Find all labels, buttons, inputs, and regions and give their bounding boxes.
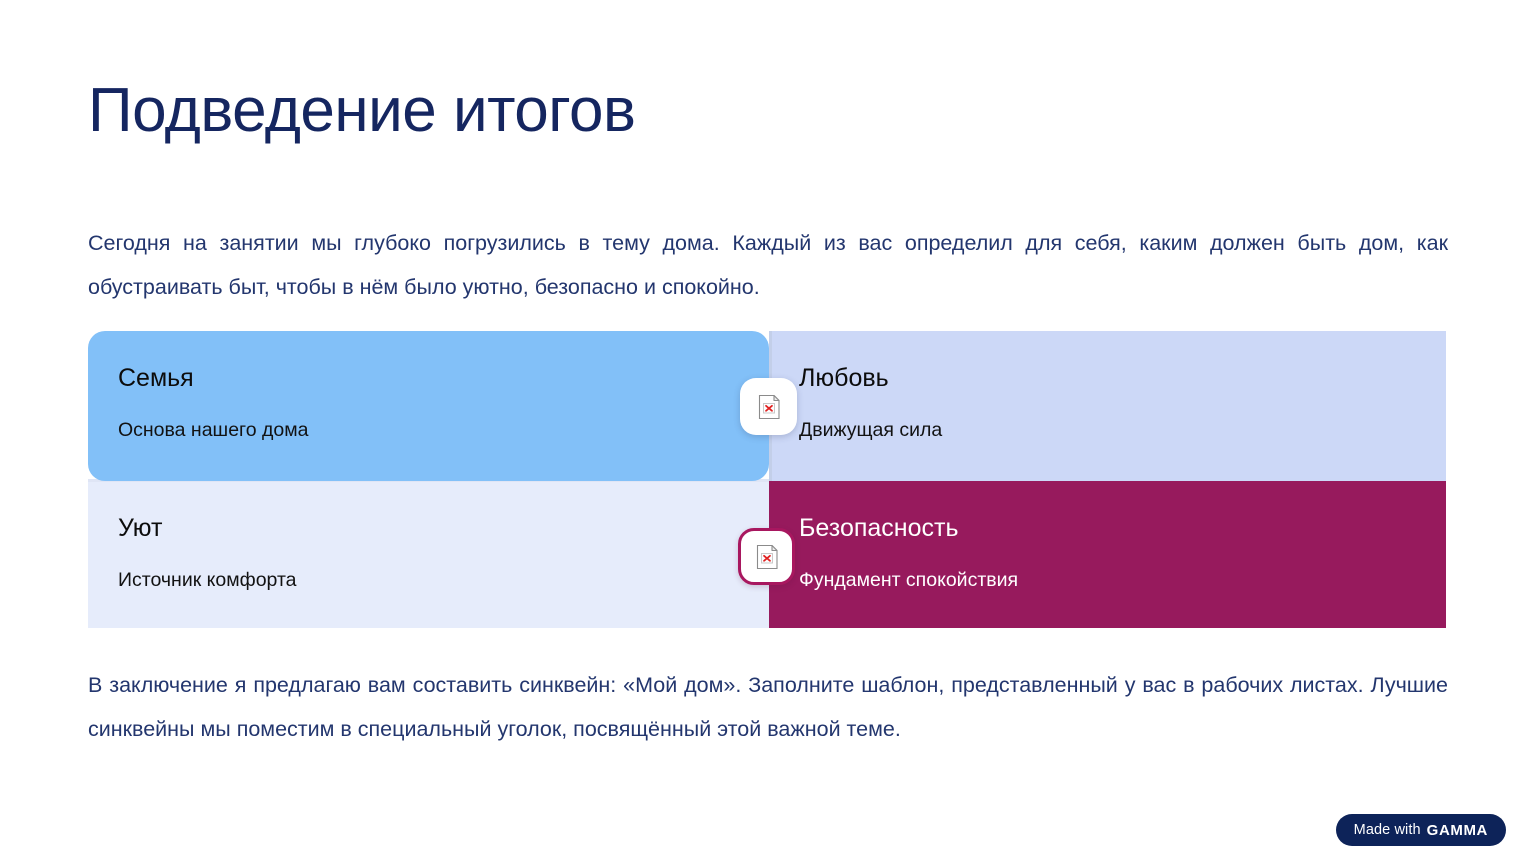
quadrant-subtitle: Фундамент спокойствия <box>799 569 1446 592</box>
quadrant-subtitle: Основа нашего дома <box>118 419 769 442</box>
quadrant-title: Семья <box>118 363 769 393</box>
made-with-gamma-badge[interactable]: Made with GAMMA <box>1336 814 1506 846</box>
quadrant-subtitle: Движущая сила <box>799 419 1446 442</box>
quadrant-title: Любовь <box>799 363 1446 393</box>
quadrant-title: Безопасность <box>799 513 1446 543</box>
outro-paragraph: В заключение я предлагаю вам составить с… <box>88 663 1448 751</box>
quadrant-family[interactable]: Семья Основа нашего дома <box>88 331 769 481</box>
quadrant-subtitle: Источник комфорта <box>118 569 769 592</box>
quadrant-love[interactable]: Любовь Движущая сила <box>769 331 1446 481</box>
broken-image-icon <box>754 392 784 422</box>
broken-image-icon <box>752 542 782 572</box>
quadrant-comfort[interactable]: Уют Источник комфорта <box>88 481 769 628</box>
intro-paragraph: Сегодня на занятии мы глубоко погрузилис… <box>88 221 1448 309</box>
badge-prefix-label: Made with <box>1354 822 1421 838</box>
quadrant-title: Уют <box>118 513 769 543</box>
quadrant-safety[interactable]: Безопасность Фундамент спокойствия <box>769 481 1446 628</box>
page-title: Подведение итогов <box>88 78 635 145</box>
slide-canvas: Подведение итогов Сегодня на занятии мы … <box>0 0 1536 864</box>
badge-brand-label: GAMMA <box>1427 822 1488 839</box>
quadrant-grid: Любовь Движущая сила Уют Источник комфор… <box>88 331 1446 628</box>
broken-image-chip-bottom[interactable] <box>738 528 795 585</box>
broken-image-chip-top[interactable] <box>740 378 797 435</box>
